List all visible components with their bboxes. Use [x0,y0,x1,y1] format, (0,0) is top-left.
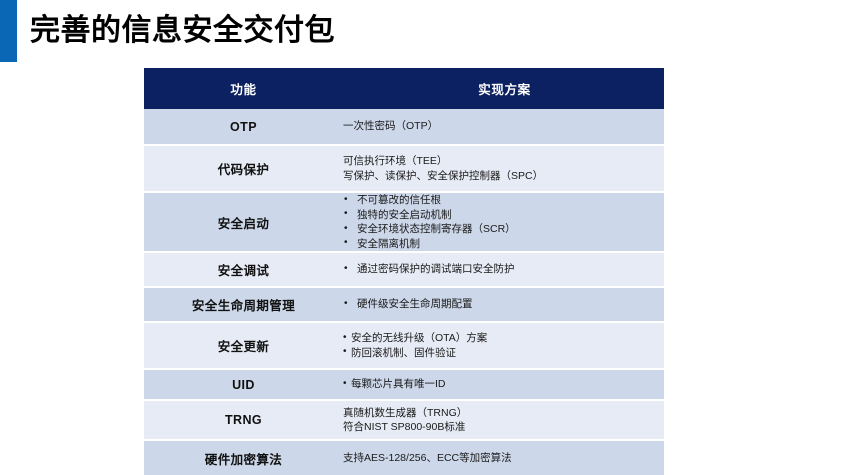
solution-bullet: 安全的无线升级（OTA）方案 [343,331,664,346]
cell-solution: 真随机数生成器（TRNG） 符合NIST SP800-90B标准 [343,400,664,440]
solution-bullet: 每颗芯片具有唯一ID [343,377,664,392]
table-row: OTP 一次性密码（OTP） [144,109,664,145]
cell-solution: 一次性密码（OTP） [343,109,664,145]
solution-bullet: 硬件级安全生命周期配置 [343,297,664,312]
solution-bullet-list: 安全的无线升级（OTA）方案 防回滚机制、固件验证 [343,331,664,360]
solution-line: 一次性密码（OTP） [343,119,664,134]
cell-feature: 安全启动 [144,192,343,252]
cell-feature: 安全调试 [144,252,343,287]
cell-solution: 每颗芯片具有唯一ID [343,369,664,400]
cell-feature: OTP [144,109,343,145]
column-header-feature: 功能 [144,68,343,109]
cell-solution: 硬件级安全生命周期配置 [343,287,664,322]
table-row: 安全生命周期管理 硬件级安全生命周期配置 [144,287,664,322]
solution-line: 可信执行环境（TEE） [343,154,664,169]
cell-solution: 可信执行环境（TEE） 写保护、读保护、安全保护控制器（SPC） [343,145,664,192]
solution-bullet-list: 不可篡改的信任根 独特的安全启动机制 安全环境状态控制寄存器（SCR） 安全隔离… [343,193,664,251]
solution-bullet: 不可篡改的信任根 [343,193,664,208]
solution-line: 写保护、读保护、安全保护控制器（SPC） [343,169,664,184]
table-row: 安全更新 安全的无线升级（OTA）方案 防回滚机制、固件验证 [144,322,664,369]
solution-bullet: 防回滚机制、固件验证 [343,346,664,361]
column-header-solution: 实现方案 [343,68,664,109]
security-delivery-package-table: 功能 实现方案 OTP 一次性密码（OTP） 代码保护 可信执行环境（TEE） … [144,68,664,475]
title-accent-bar [0,0,17,62]
table-row: 硬件加密算法 支持AES-128/256、ECC等加密算法 [144,440,664,475]
cell-feature: 代码保护 [144,145,343,192]
cell-feature: TRNG [144,400,343,440]
cell-feature: 安全更新 [144,322,343,369]
solution-line: 支持AES-128/256、ECC等加密算法 [343,451,664,466]
table-header-row: 功能 实现方案 [144,68,664,109]
cell-solution: 支持AES-128/256、ECC等加密算法 [343,440,664,475]
cell-feature: 硬件加密算法 [144,440,343,475]
solution-bullet-list: 硬件级安全生命周期配置 [343,297,664,312]
cell-solution: 不可篡改的信任根 独特的安全启动机制 安全环境状态控制寄存器（SCR） 安全隔离… [343,192,664,252]
solution-bullet: 通过密码保护的调试端口安全防护 [343,262,664,277]
cell-solution: 通过密码保护的调试端口安全防护 [343,252,664,287]
solution-bullet: 安全环境状态控制寄存器（SCR） [343,222,664,237]
table-row: 安全调试 通过密码保护的调试端口安全防护 [144,252,664,287]
cell-feature: UID [144,369,343,400]
table-row: UID 每颗芯片具有唯一ID [144,369,664,400]
solution-line: 真随机数生成器（TRNG） [343,406,664,421]
page-title: 完善的信息安全交付包 [30,9,335,53]
solution-bullet: 独特的安全启动机制 [343,208,664,223]
table-row: TRNG 真随机数生成器（TRNG） 符合NIST SP800-90B标准 [144,400,664,440]
solution-line: 符合NIST SP800-90B标准 [343,420,664,435]
table-row: 安全启动 不可篡改的信任根 独特的安全启动机制 安全环境状态控制寄存器（SCR）… [144,192,664,252]
solution-bullet: 安全隔离机制 [343,237,664,252]
table-row: 代码保护 可信执行环境（TEE） 写保护、读保护、安全保护控制器（SPC） [144,145,664,192]
cell-solution: 安全的无线升级（OTA）方案 防回滚机制、固件验证 [343,322,664,369]
solution-bullet-list: 每颗芯片具有唯一ID [343,377,664,392]
cell-feature: 安全生命周期管理 [144,287,343,322]
solution-bullet-list: 通过密码保护的调试端口安全防护 [343,262,664,277]
